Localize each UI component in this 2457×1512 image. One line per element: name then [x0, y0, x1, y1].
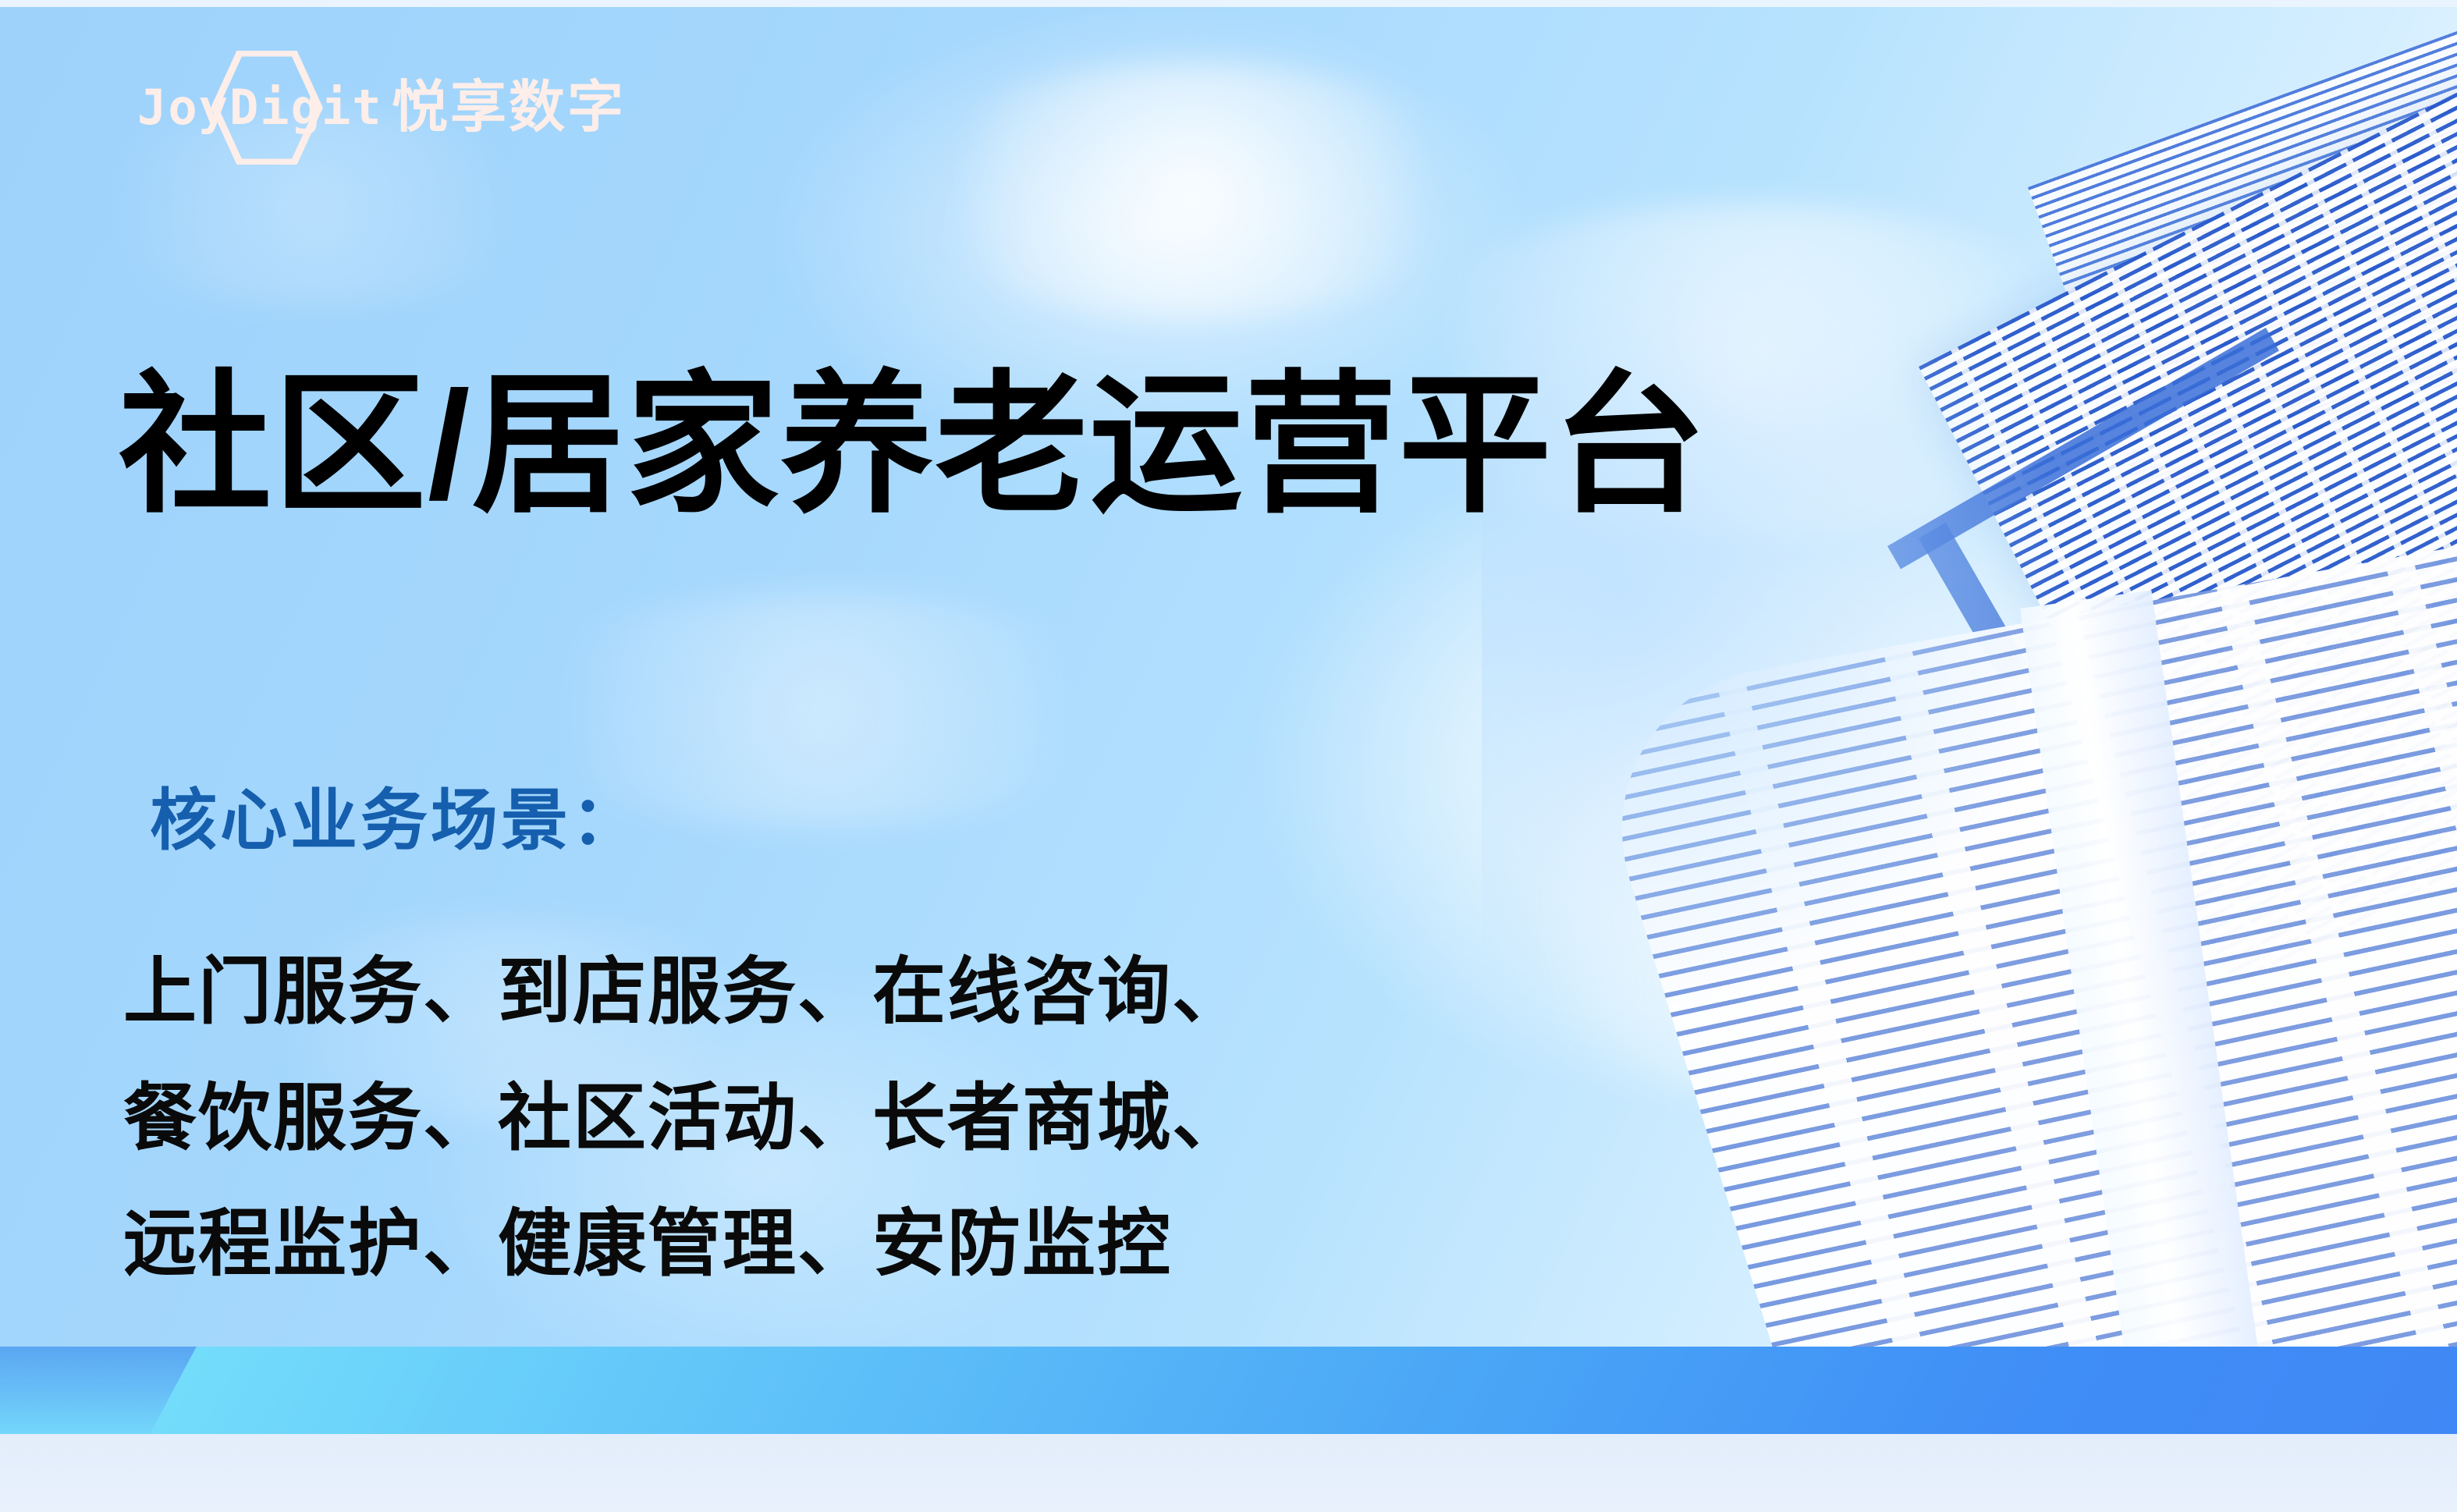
footer-strip: [0, 1431, 2457, 1512]
section-heading: 核心业务场景：: [150, 784, 641, 858]
bottom-decorative-band: [0, 1340, 2457, 1512]
top-edge-strip: [0, 0, 2457, 7]
logo-mark: JoyDigit: [137, 62, 371, 154]
band-main-parallelogram: [150, 1347, 2457, 1434]
logo-chinese-name: 悦享数字: [392, 80, 626, 136]
scenario-line: 上门服务、到店服务、在线咨询、: [123, 928, 1247, 1055]
logo-wordmark: JoyDigit: [137, 83, 383, 132]
scenario-line: 餐饮服务、社区活动、长者商城、: [123, 1055, 1247, 1181]
presentation-slide: JoyDigit 悦享数字 社区/居家养老运营平台 核心业务场景： 上门服务、到…: [0, 0, 2457, 1512]
brand-logo: JoyDigit 悦享数字: [137, 61, 626, 154]
page-title: 社区/居家养老运营平台: [119, 360, 1707, 531]
scenario-line: 远程监护、健康管理、安防监控: [123, 1180, 1247, 1307]
scenario-list: 上门服务、到店服务、在线咨询、 餐饮服务、社区活动、长者商城、 远程监护、健康管…: [123, 928, 1247, 1307]
